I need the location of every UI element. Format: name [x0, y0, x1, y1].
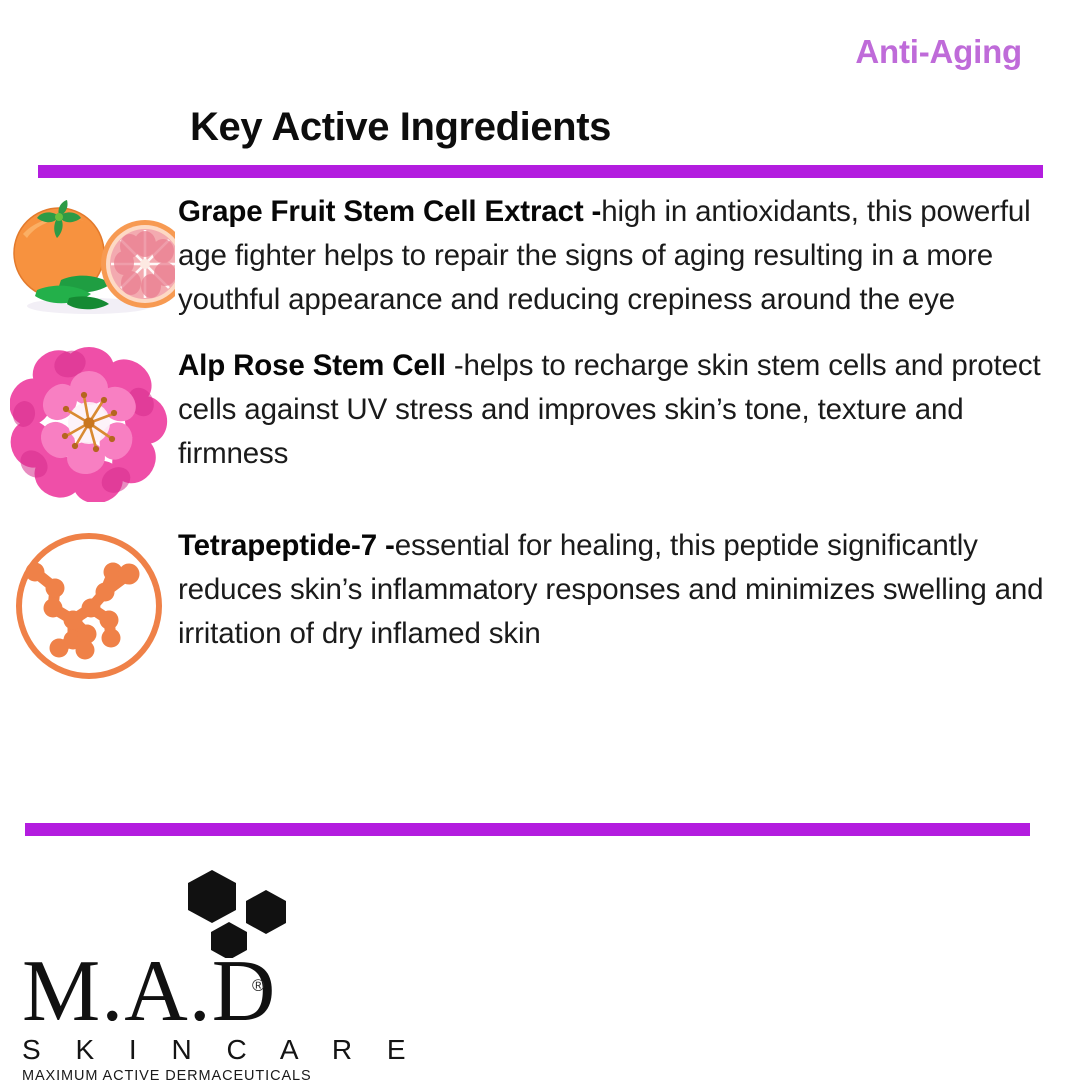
ingredient-name: Alp Rose Stem Cell	[178, 349, 454, 382]
grapefruit-icon	[3, 198, 175, 316]
ingredient-icon-slot	[0, 190, 178, 316]
ingredient-item-alp-rose: Alp Rose Stem Cell -helps to recharge sk…	[0, 344, 1080, 502]
peptide-molecule-icon	[13, 530, 165, 682]
ingredient-name: Tetrapeptide-7 -	[178, 529, 395, 562]
logo-brand-name: M.A.D ®	[22, 946, 292, 1038]
ingredient-item-grapefruit: Grape Fruit Stem Cell Extract -high in a…	[0, 190, 1080, 322]
page-title: Key Active Ingredients	[190, 105, 611, 150]
ingredient-item-tetrapeptide: Tetrapeptide-7 -essential for healing, t…	[0, 524, 1080, 682]
divider-bottom	[25, 823, 1030, 836]
ingredient-list: Grape Fruit Stem Cell Extract -high in a…	[0, 190, 1080, 682]
ingredient-text-tetrapeptide: Tetrapeptide-7 -essential for healing, t…	[178, 524, 1080, 656]
divider-top	[38, 165, 1043, 178]
ingredient-text-alp-rose: Alp Rose Stem Cell -helps to recharge sk…	[178, 344, 1080, 476]
logo-brand-text: M.A.D	[22, 943, 276, 1040]
alp-rose-flower-icon	[10, 344, 168, 502]
ingredient-icon-slot	[0, 344, 178, 502]
logo-wordmark: M.A.D ® S K I N C A R E MAXIMUM ACTIVE D…	[22, 946, 292, 1084]
category-label: Anti-Aging	[0, 33, 1022, 71]
logo-tagline: MAXIMUM ACTIVE DERMACEUTICALS	[22, 1068, 292, 1084]
ingredient-name: Grape Fruit Stem Cell Extract -	[178, 195, 601, 228]
ingredient-icon-slot	[0, 524, 178, 682]
brand-logo: M.A.D ® S K I N C A R E MAXIMUM ACTIVE D…	[22, 868, 292, 1073]
registered-trademark-icon: ®	[252, 940, 266, 1032]
ingredient-text-grapefruit: Grape Fruit Stem Cell Extract -high in a…	[178, 190, 1080, 322]
